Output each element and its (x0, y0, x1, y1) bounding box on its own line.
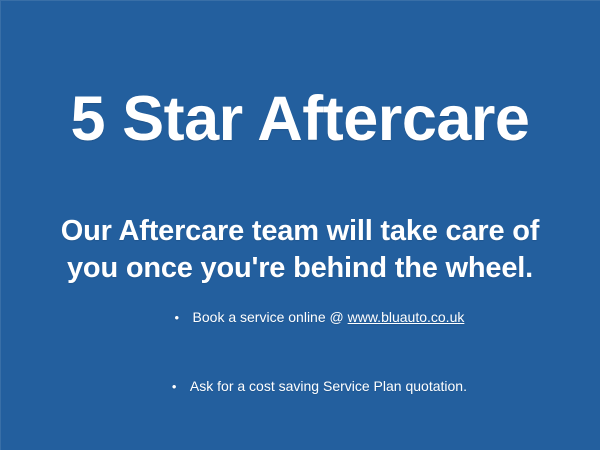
list-item-content: •Ask for a cost saving Service Plan quot… (133, 352, 467, 421)
list-item: •Ask for a cost saving Service Plan quot… (0, 352, 600, 421)
bullet-dot-icon: • (172, 375, 190, 398)
page-title: 5 Star Aftercare (0, 88, 600, 151)
subtitle-line-2: you once you're behind the wheel. (0, 250, 600, 287)
list-item-content: • Book a courtesy car from our modern fl… (137, 421, 463, 450)
list-item-label: Ask for a cost saving Service Plan quota… (190, 378, 467, 394)
aftercare-slide: 5 Star Aftercare Our Aftercare team will… (0, 0, 600, 450)
subtitle: Our Aftercare team will take care of you… (0, 213, 600, 287)
benefits-list: •Book a service online @ www.bluauto.co.… (0, 283, 600, 450)
bullet-dot-icon: • (175, 306, 193, 329)
slide-content: 5 Star Aftercare Our Aftercare team will… (0, 0, 600, 450)
bullet-dot-icon: • (176, 444, 194, 450)
list-item-content: •Book a service online @ www.bluauto.co.… (136, 283, 465, 352)
list-item: •Book a service online @ www.bluauto.co.… (0, 283, 600, 352)
subtitle-line-1: Our Aftercare team will take care of (0, 213, 600, 250)
bluauto-website-link[interactable]: www.bluauto.co.uk (348, 309, 465, 325)
list-item-label: Book a service online @ (193, 309, 348, 325)
list-item: • Book a courtesy car from our modern fl… (0, 421, 600, 450)
